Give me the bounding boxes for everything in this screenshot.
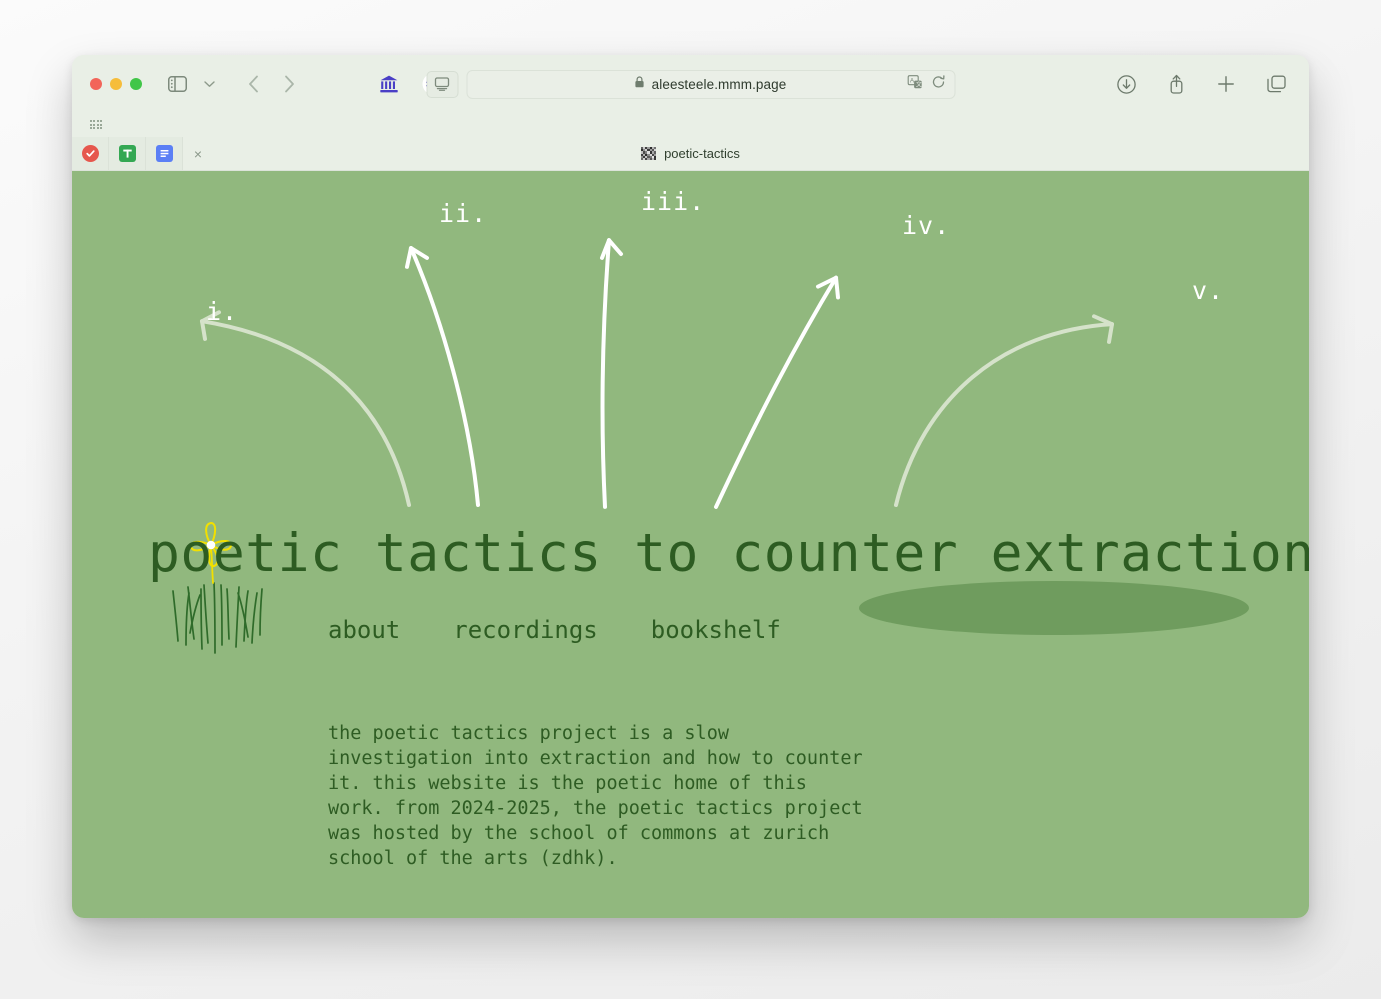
sidebar-icon[interactable] [162,71,192,97]
address-url-text: aleesteele.mmm.page [652,77,787,92]
reader-view-icon[interactable] [426,71,458,98]
drawing-link-ii[interactable] [407,248,478,505]
drawing-label-iii[interactable]: iii. [641,187,705,216]
address-input[interactable]: aleesteele.mmm.page A 文 [466,70,955,99]
share-icon[interactable] [1161,71,1191,97]
nav-link-recordings[interactable]: recordings [453,616,598,644]
drawing-label-i[interactable]: i. [206,297,238,326]
active-tab-title: poetic-tactics [664,146,740,161]
address-bar-area: aleesteele.mmm.page A 文 [426,70,955,99]
lock-icon [635,75,645,93]
page-title: poetic tactics to counter extraction [148,523,1309,584]
reload-icon[interactable] [931,75,945,94]
forward-chevron-icon[interactable] [274,71,304,97]
pinned-tab-check[interactable] [72,137,109,170]
drawing-link-v[interactable] [896,316,1112,505]
pond-ellipse-shape [859,581,1249,635]
active-tab: poetic-tactics [72,137,1309,170]
download-icon[interactable] [1111,71,1141,97]
site-favicon-icon [641,147,656,160]
pinned-tab-sheets[interactable] [109,137,146,170]
drawing-label-iv[interactable]: iv. [902,211,950,240]
tab-bar: × poetic-tactics [72,137,1309,171]
nav-link-about[interactable]: about [328,616,400,644]
pinned-tab-docs[interactable] [146,137,183,170]
back-chevron-icon[interactable] [238,71,268,97]
drawing-link-i[interactable] [202,312,409,505]
nav-link-bookshelf[interactable]: bookshelf [651,616,781,644]
chevron-down-icon[interactable] [194,71,224,97]
close-tab-button[interactable]: × [183,137,213,170]
web-page-content: i. ii. iii. iv. v. poetic tactics to cou… [72,171,1309,918]
intro-paragraph: the poetic tactics project is a slow inv… [328,721,863,871]
drawing-label-ii[interactable]: ii. [439,199,487,228]
blue-docs-icon [156,145,173,162]
svg-text:文: 文 [915,80,921,88]
drawing-link-iii[interactable] [602,240,621,507]
drawing-label-v[interactable]: v. [1192,276,1224,305]
drawing-link-iv[interactable] [716,278,838,507]
red-check-circle-icon [82,145,99,162]
favorites-bar [72,113,1309,137]
minimize-window-button[interactable] [110,78,122,90]
site-nav: about recordings bookshelf [328,616,781,644]
window-traffic-lights [90,78,142,90]
tab-overview-icon[interactable] [1261,71,1291,97]
close-window-button[interactable] [90,78,102,90]
grid-dots-icon[interactable] [90,120,102,130]
translate-icon[interactable]: A 文 [907,75,922,94]
green-sheets-icon [119,145,136,162]
bank-extension-icon[interactable] [374,71,404,97]
plus-icon[interactable] [1211,71,1241,97]
hero-title-row: poetic tactics to counter extraction [72,523,1309,603]
browser-toolbar: aleesteele.mmm.page A 文 [72,55,1309,113]
maximize-window-button[interactable] [130,78,142,90]
browser-window: aleesteele.mmm.page A 文 [72,55,1309,918]
intro-text-block: the poetic tactics project is a slow inv… [328,671,863,918]
